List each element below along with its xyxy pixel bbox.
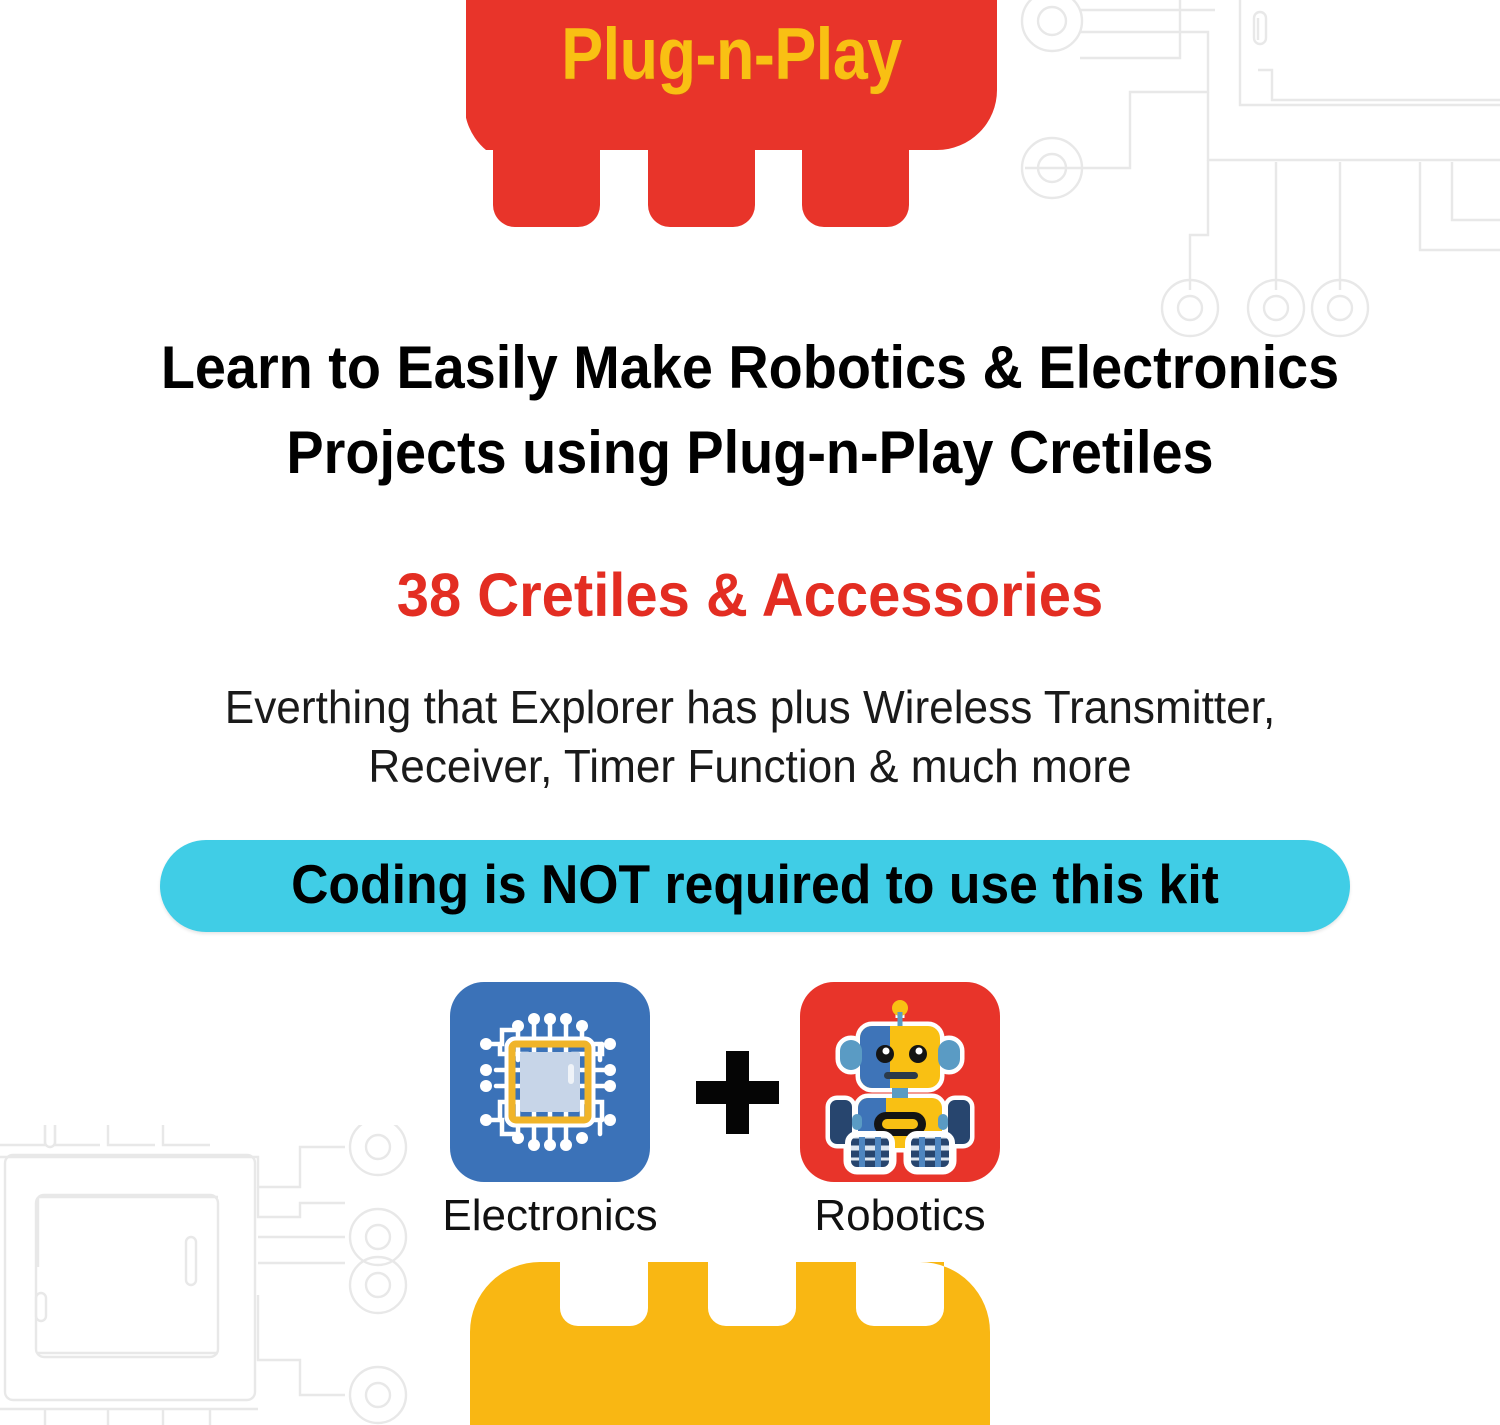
robotics-tile [800,982,1000,1182]
cretiles-count-heading: 38 Cretiles & Accessories [38,562,1463,629]
no-coding-banner: Coding is NOT required to use this kit [160,840,1350,932]
description-line-1: Everthing that Explorer has plus Wireles… [136,678,1365,737]
circuit-trace-decoration-top-right [980,0,1500,340]
description-line-2: Receiver, Timer Function & much more [136,737,1365,796]
kit-description: Everthing that Explorer has plus Wireles… [136,678,1365,796]
plus-separator-icon [690,1045,785,1140]
headline-line-2: Projects using Plug-n-Play Cretiles [53,410,1448,495]
product-feature-card: Plug-n-Play Learn to Easily Make Robotic… [0,0,1500,1425]
connector-tile-icon [470,1262,990,1425]
robotics-label: Robotics [775,1192,1025,1240]
plug-n-play-label: Plug-n-Play [503,18,960,91]
no-coding-banner-text: Coding is NOT required to use this kit [196,840,1315,932]
category-electronics: Electronics [425,982,675,1240]
electronics-tile [450,982,650,1182]
headline-line-1: Learn to Easily Make Robotics & Electron… [53,325,1448,410]
microchip-icon [450,982,650,1182]
robot-icon [800,982,1000,1182]
category-robotics: Robotics [775,982,1025,1240]
electronics-label: Electronics [425,1192,675,1240]
bottom-connector-tile [470,1262,990,1425]
page-headline: Learn to Easily Make Robotics & Electron… [53,325,1448,495]
